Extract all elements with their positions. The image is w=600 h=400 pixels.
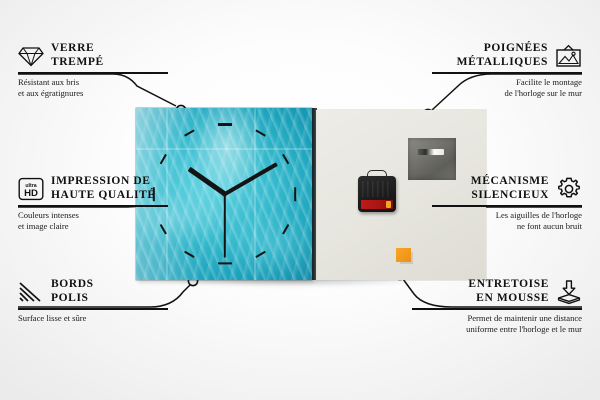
feature-title-line1: BORDS — [51, 278, 94, 292]
feature-mecanisme-silencieux: MÉCANISME SILENCIEUX Les aiguilles de l'… — [432, 175, 582, 233]
infographic-canvas: VERRE TREMPÉ Résistant aux bris et aux é… — [0, 0, 600, 400]
feature-title-line2: EN MOUSSE — [468, 292, 549, 306]
product-photo-composite — [136, 108, 474, 282]
feature-head: POIGNÉES MÉTALLIQUES — [432, 42, 582, 69]
feature-title-line1: IMPRESSION DE — [51, 175, 156, 189]
feature-desc-line1: Surface lisse et sûre — [18, 313, 168, 325]
feature-title-line1: MÉCANISME — [471, 175, 549, 189]
feature-head: BORDS POLIS — [18, 278, 168, 305]
feature-title: ENTRETOISE EN MOUSSE — [468, 278, 549, 305]
feature-title: MÉCANISME SILENCIEUX — [471, 175, 549, 202]
feature-head: ENTRETOISE EN MOUSSE — [412, 278, 582, 305]
feature-desc: Les aiguilles de l'horloge ne font aucun… — [432, 210, 582, 233]
feature-desc-line1: Facilite le montage — [432, 77, 582, 89]
clock-hand-hour — [188, 167, 227, 196]
feature-underline — [412, 308, 582, 309]
feature-title-line2: HAUTE QUALITÉ — [51, 189, 156, 203]
feature-title-line1: VERRE — [51, 42, 104, 56]
feature-desc-line2: uniforme entre l'horloge et le mur — [412, 324, 582, 336]
feature-desc-line1: Couleurs intenses — [18, 210, 168, 222]
feature-underline — [18, 205, 168, 206]
feature-desc-line2: ne font aucun bruit — [432, 221, 582, 233]
feature-head: MÉCANISME SILENCIEUX — [432, 175, 582, 202]
gear-icon — [556, 176, 582, 202]
feature-underline — [18, 308, 168, 309]
feature-title-line2: TREMPÉ — [51, 56, 104, 70]
feature-desc-line1: Les aiguilles de l'horloge — [432, 210, 582, 222]
bracket-slot — [418, 149, 444, 155]
feature-desc: Facilite le montage de l'horloge sur le … — [432, 77, 582, 100]
feature-title-line2: POLIS — [51, 292, 94, 306]
feature-head: VERRE TREMPÉ — [18, 42, 168, 69]
feature-title: BORDS POLIS — [51, 278, 94, 305]
feature-desc-line1: Résistant aux bris — [18, 77, 168, 89]
feature-title-line1: ENTRETOISE — [468, 278, 549, 292]
feature-entretoise-en-mousse: ENTRETOISE EN MOUSSE Permet de maintenir… — [412, 278, 582, 336]
movement-texture — [362, 181, 392, 197]
metal-hanger-bracket — [408, 138, 456, 180]
feature-desc: Surface lisse et sûre — [18, 313, 168, 325]
feature-desc-line2: et aux égratignures — [18, 88, 168, 100]
feature-desc-line2: de l'horloge sur le mur — [432, 88, 582, 100]
clock-tick — [255, 251, 266, 259]
feature-underline — [432, 72, 582, 73]
feature-head: ultra HD IMPRESSION DE HAUTE QUALITÉ — [18, 175, 168, 202]
feature-bords-polis: BORDS POLIS Surface lisse et sûre — [18, 278, 168, 324]
feature-title: IMPRESSION DE HAUTE QUALITÉ — [51, 175, 156, 202]
quartz-movement-housing — [358, 176, 396, 212]
clock-hand-minute — [224, 162, 278, 196]
clock-tick — [282, 154, 290, 165]
clock-tick — [184, 251, 195, 259]
diamond-icon — [18, 45, 44, 67]
clock-tick — [184, 130, 195, 138]
feature-underline — [432, 205, 582, 206]
feature-underline — [18, 72, 168, 73]
polished-edge-icon — [18, 281, 44, 303]
clock-tick — [160, 154, 168, 165]
feature-title: VERRE TREMPÉ — [51, 42, 104, 69]
clock-tick — [255, 130, 266, 138]
foam-spacer-icon — [556, 279, 582, 305]
clock-tick — [218, 123, 232, 125]
picture-frame-hanger-icon — [555, 44, 582, 68]
feature-title-line2: SILENCIEUX — [471, 189, 549, 203]
feature-impression-haute-qualite: ultra HD IMPRESSION DE HAUTE QUALITÉ Cou… — [18, 175, 168, 233]
ultra-hd-icon: ultra HD — [18, 177, 44, 201]
feature-desc-line2: et image claire — [18, 221, 168, 233]
feature-title-line1: POIGNÉES — [457, 42, 548, 56]
clock-tick — [282, 223, 290, 234]
feature-desc: Couleurs intenses et image claire — [18, 210, 168, 233]
feature-title-line2: MÉTALLIQUES — [457, 56, 548, 70]
feature-poignees-metalliques: POIGNÉES MÉTALLIQUES Facilite le montage… — [432, 42, 582, 100]
feature-title: POIGNÉES MÉTALLIQUES — [457, 42, 548, 69]
clock-tick — [218, 262, 232, 264]
feature-desc: Permet de maintenir une distance uniform… — [412, 313, 582, 336]
battery — [361, 200, 393, 209]
feature-verre-trempe: VERRE TREMPÉ Résistant aux bris et aux é… — [18, 42, 168, 100]
foam-spacer-pad — [396, 248, 411, 262]
clock-tick — [294, 187, 296, 201]
feature-desc-line1: Permet de maintenir une distance — [412, 313, 582, 325]
ultra-hd-icon-big-text: HD — [24, 188, 38, 199]
feature-desc: Résistant aux bris et aux égratignures — [18, 77, 168, 100]
movement-hanger-hook — [367, 170, 387, 179]
clock-hand-second — [224, 194, 226, 258]
